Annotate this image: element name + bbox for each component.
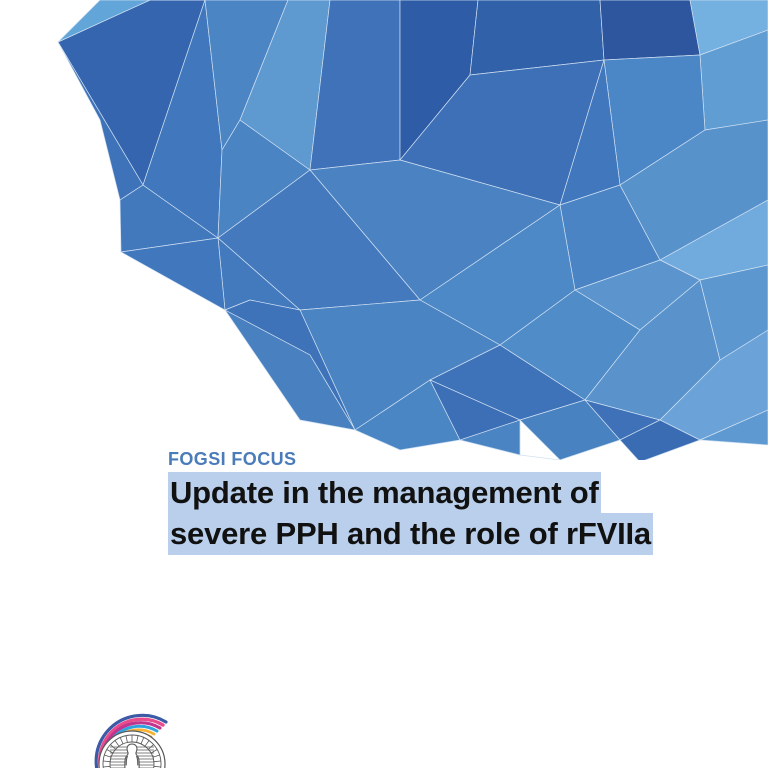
fogsi-logo	[70, 694, 194, 768]
fogsi-emblem-icon	[70, 694, 194, 768]
title-block: FOGSI FOCUS Update in the management of …	[168, 450, 688, 554]
series-label: FOGSI FOCUS	[168, 450, 688, 468]
cover-page: FOGSI FOCUS Update in the management of …	[0, 0, 768, 768]
page-title: Update in the management of severe PPH a…	[168, 472, 688, 554]
low-poly-mesh-artwork	[0, 0, 768, 460]
title-line-2: severe PPH and the role of rFVIIa	[168, 513, 688, 554]
title-line-1: Update in the management of	[168, 472, 688, 513]
